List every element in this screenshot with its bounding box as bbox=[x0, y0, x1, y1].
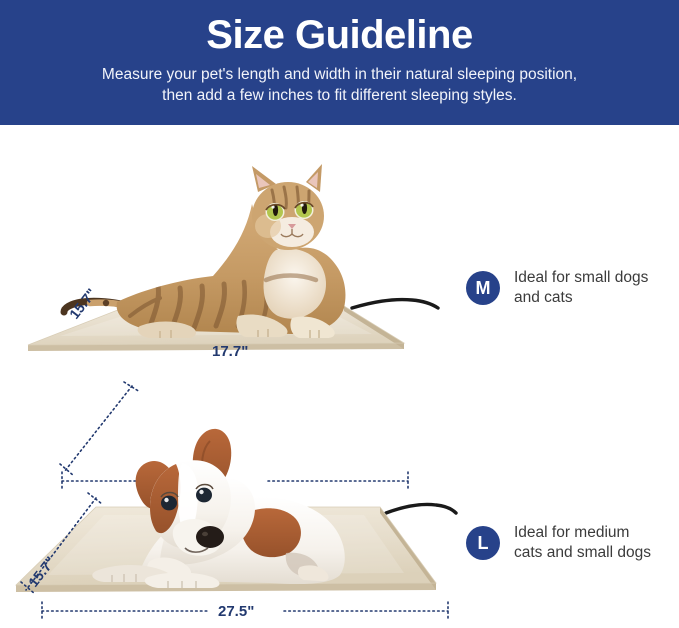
header-subtitle-line-2: then add a few inches to fit different s… bbox=[0, 85, 679, 106]
cat-head bbox=[252, 164, 324, 250]
product-row-medium bbox=[0, 130, 679, 380]
size-badge-medium: M bbox=[466, 271, 500, 305]
width-label-large: 27.5" bbox=[218, 603, 254, 620]
header-subtitle-line-1: Measure your pet's length and width in t… bbox=[0, 64, 679, 85]
size-caption-medium: Ideal for small dogs and cats bbox=[514, 268, 648, 308]
power-cord bbox=[352, 299, 438, 308]
size-note-large: L Ideal for medium cats and small dogs bbox=[466, 523, 651, 563]
power-cord bbox=[386, 504, 456, 513]
size-guideline-infographic: Size Guideline Measure your pet's length… bbox=[0, 0, 679, 628]
header-subtitle: Measure your pet's length and width in t… bbox=[0, 60, 679, 106]
width-label-medium: 17.7" bbox=[212, 343, 248, 360]
size-caption-large: Ideal for medium cats and small dogs bbox=[514, 523, 651, 563]
size-note-medium: M Ideal for small dogs and cats bbox=[466, 268, 648, 308]
tabby-cat-illustration bbox=[64, 164, 345, 338]
size-badge-large: L bbox=[466, 526, 500, 560]
header-banner: Size Guideline Measure your pet's length… bbox=[0, 0, 679, 125]
page-title: Size Guideline bbox=[0, 8, 679, 60]
product-row-large bbox=[0, 385, 679, 628]
